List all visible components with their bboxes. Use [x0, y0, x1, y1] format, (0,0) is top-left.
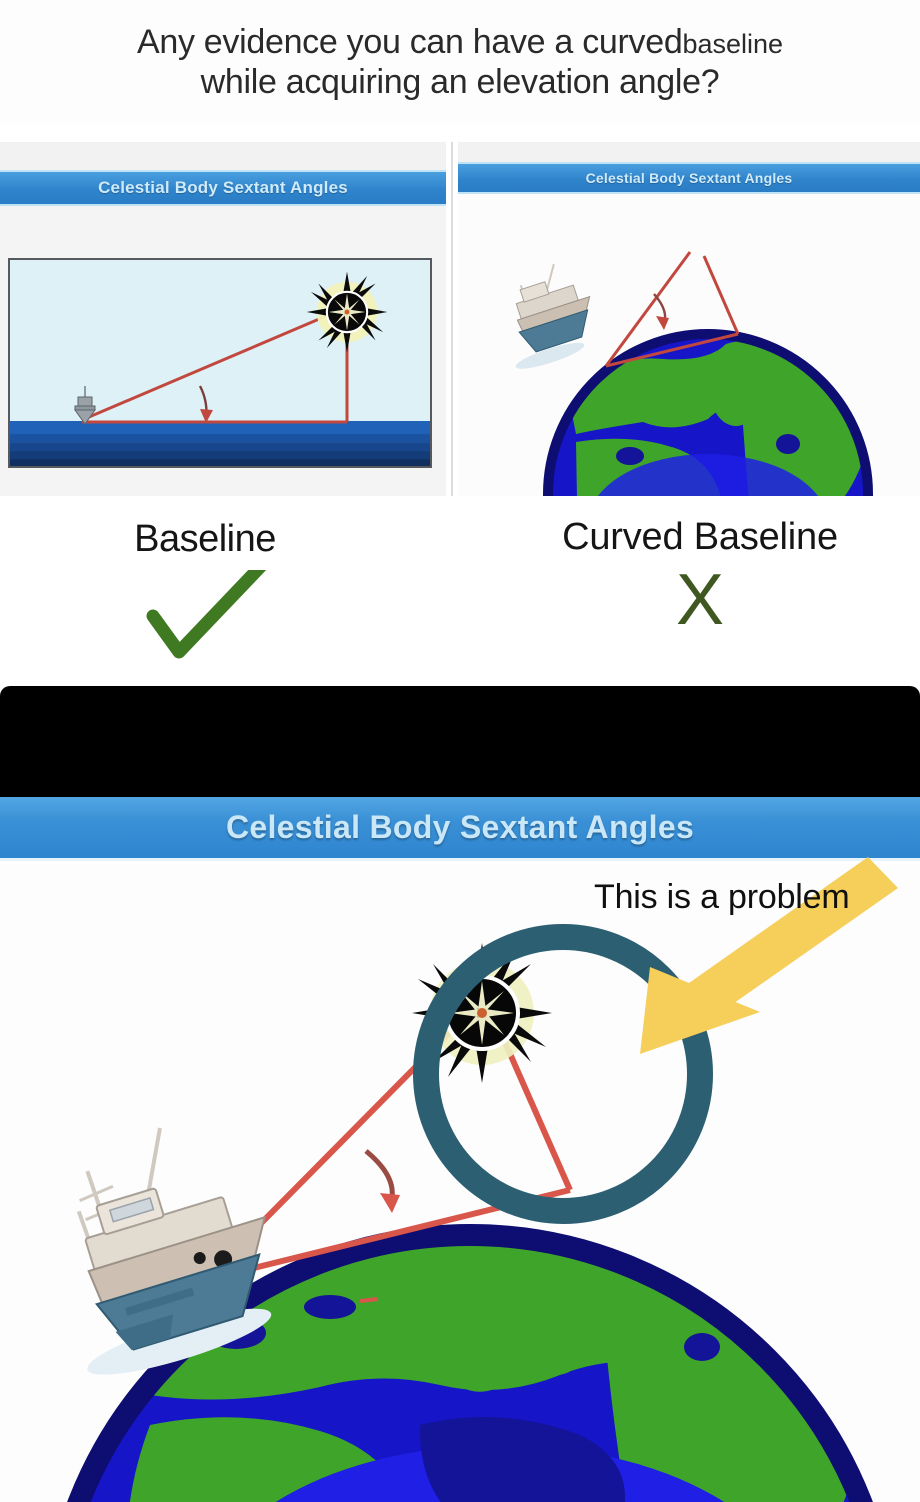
annotation-layer [0, 682, 920, 1502]
right-slide-thumbnail: Celestial Body Sextant Angles [458, 142, 920, 496]
left-slide-thumbnail: Celestial Body Sextant Angles [0, 142, 446, 496]
caption-curved-baseline: Curved Baseline [470, 516, 920, 559]
caption-baseline: Baseline [60, 518, 350, 561]
comparison-row: Celestial Body Sextant Angles [0, 124, 920, 496]
dark-green-x-mark-icon: X [610, 564, 790, 636]
left-slide-title-bar: Celestial Body Sextant Angles [0, 170, 446, 206]
slide-divider [446, 142, 458, 496]
right-slide-title: Celestial Body Sextant Angles [586, 170, 793, 186]
question-banner: Any evidence you can have a curvedbaseli… [0, 0, 920, 124]
question-line-2: while acquiring an elevation angle? [201, 63, 720, 101]
right-slide-title-bar: Celestial Body Sextant Angles [458, 162, 920, 194]
flat-baseline-illustration [8, 258, 432, 468]
question-line-1-main: Any evidence you can have a curved [137, 23, 683, 61]
right-slide-body [458, 194, 920, 496]
compass-rose-sun-icon [305, 270, 389, 354]
caption-row: Baseline Curved Baseline X [0, 496, 920, 682]
left-slide-body [0, 206, 446, 496]
small-ship-icon [72, 386, 98, 428]
left-slide-title: Celestial Body Sextant Angles [98, 178, 348, 198]
question-line-1: Any evidence you can have a curvedbaseli… [137, 23, 783, 61]
curved-baseline-illustration [458, 194, 920, 496]
bottom-slide: Celestial Body Sextant Angles [0, 682, 920, 1502]
problem-annotation-text: This is a problem [594, 878, 849, 917]
question-line-1-tail: baseline [682, 29, 783, 59]
green-check-mark-icon [135, 570, 275, 660]
